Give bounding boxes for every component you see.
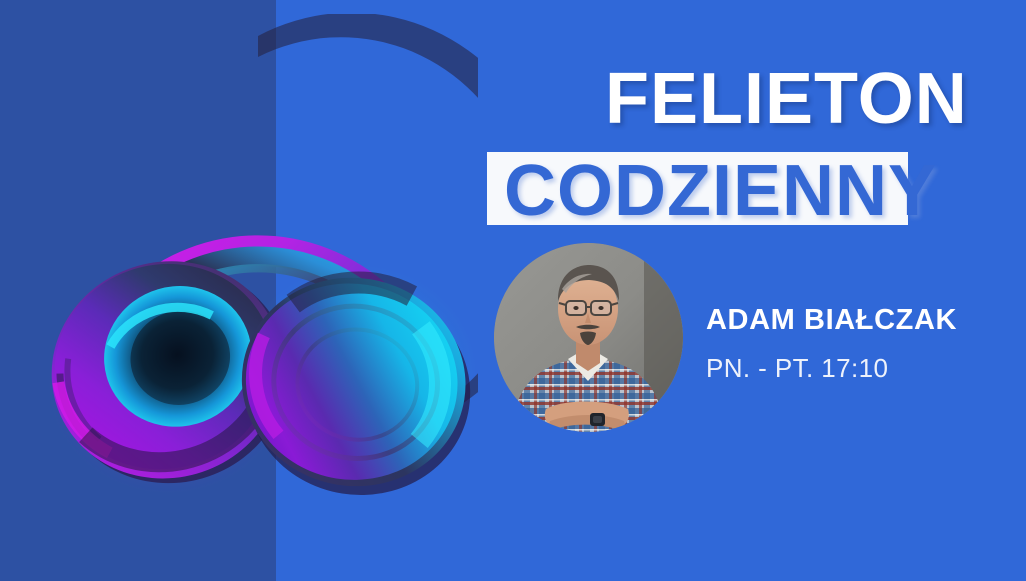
host-portrait-photo [494, 243, 683, 432]
headphones-3d-render [38, 14, 478, 514]
promo-banner: FELIETON CODZIENNY [0, 0, 1026, 581]
host-name: ADAM BIAŁCZAK [706, 306, 957, 335]
host-schedule: PN. - PT. 17:10 [706, 355, 888, 381]
page-title-line2: CODZIENNY [504, 155, 937, 227]
page-title-line1: FELIETON [605, 63, 968, 135]
